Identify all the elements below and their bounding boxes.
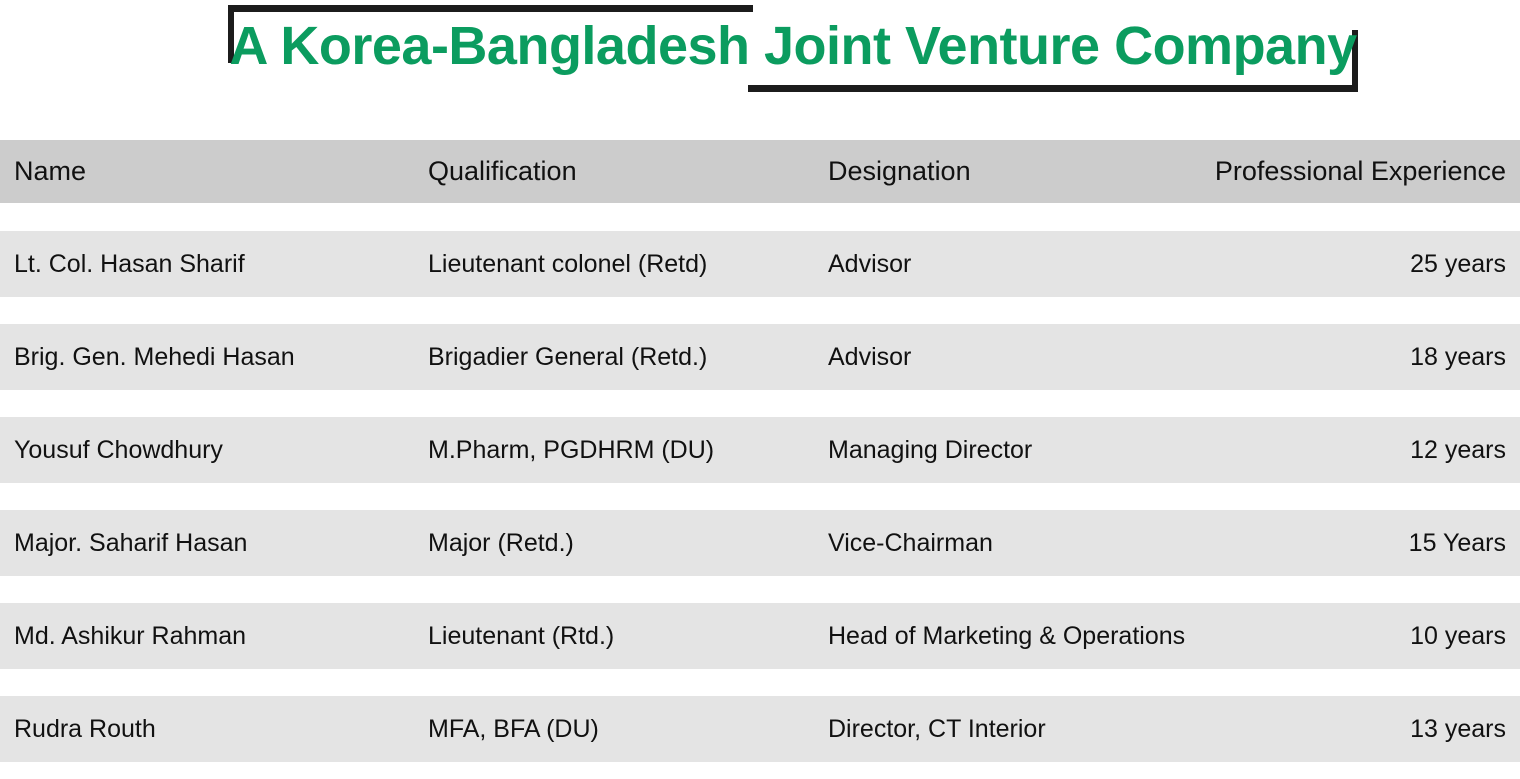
column-header-qualification: Qualification xyxy=(428,156,828,187)
cell-designation: Head of Marketing & Operations xyxy=(828,622,1208,651)
cell-qualification: MFA, BFA (DU) xyxy=(428,715,828,744)
cell-qualification: Major (Retd.) xyxy=(428,529,828,558)
cell-experience: 18 years xyxy=(1208,343,1520,372)
column-header-name: Name xyxy=(0,156,428,187)
table-row: Major. Saharif Hasan Major (Retd.) Vice-… xyxy=(0,510,1520,576)
column-header-designation: Designation xyxy=(828,156,1208,187)
cell-experience: 12 years xyxy=(1208,436,1520,465)
cell-name: Md. Ashikur Rahman xyxy=(0,622,428,651)
cell-experience: 15 Years xyxy=(1208,529,1520,558)
cell-name: Rudra Routh xyxy=(0,715,428,744)
leadership-table: Name Qualification Designation Professio… xyxy=(0,140,1520,762)
cell-name: Major. Saharif Hasan xyxy=(0,529,428,558)
cell-qualification: Brigadier General (Retd.) xyxy=(428,343,828,372)
table-header-row: Name Qualification Designation Professio… xyxy=(0,140,1520,203)
cell-qualification: Lieutenant colonel (Retd) xyxy=(428,250,828,279)
table-row: Md. Ashikur Rahman Lieutenant (Rtd.) Hea… xyxy=(0,603,1520,669)
cell-qualification: M.Pharm, PGDHRM (DU) xyxy=(428,436,828,465)
column-header-experience: Professional Experience xyxy=(1208,156,1520,187)
cell-name: Lt. Col. Hasan Sharif xyxy=(0,250,428,279)
cell-designation: Advisor xyxy=(828,343,1208,372)
cell-experience: 10 years xyxy=(1208,622,1520,651)
table-row: Yousuf Chowdhury M.Pharm, PGDHRM (DU) Ma… xyxy=(0,417,1520,483)
cell-qualification: Lieutenant (Rtd.) xyxy=(428,622,828,651)
cell-experience: 13 years xyxy=(1208,715,1520,744)
title-banner: A Korea-Bangladesh Joint Venture Company xyxy=(0,0,1520,140)
page-title: A Korea-Bangladesh Joint Venture Company xyxy=(228,8,1358,84)
cell-designation: Vice-Chairman xyxy=(828,529,1208,558)
cell-experience: 25 years xyxy=(1208,250,1520,279)
cell-designation: Managing Director xyxy=(828,436,1208,465)
table-row: Rudra Routh MFA, BFA (DU) Director, CT I… xyxy=(0,696,1520,762)
cell-designation: Advisor xyxy=(828,250,1208,279)
banner-rule-bottom xyxy=(748,85,1358,92)
table-row: Brig. Gen. Mehedi Hasan Brigadier Genera… xyxy=(0,324,1520,390)
cell-name: Yousuf Chowdhury xyxy=(0,436,428,465)
table-row: Lt. Col. Hasan Sharif Lieutenant colonel… xyxy=(0,231,1520,297)
cell-name: Brig. Gen. Mehedi Hasan xyxy=(0,343,428,372)
cell-designation: Director, CT Interior xyxy=(828,715,1208,744)
